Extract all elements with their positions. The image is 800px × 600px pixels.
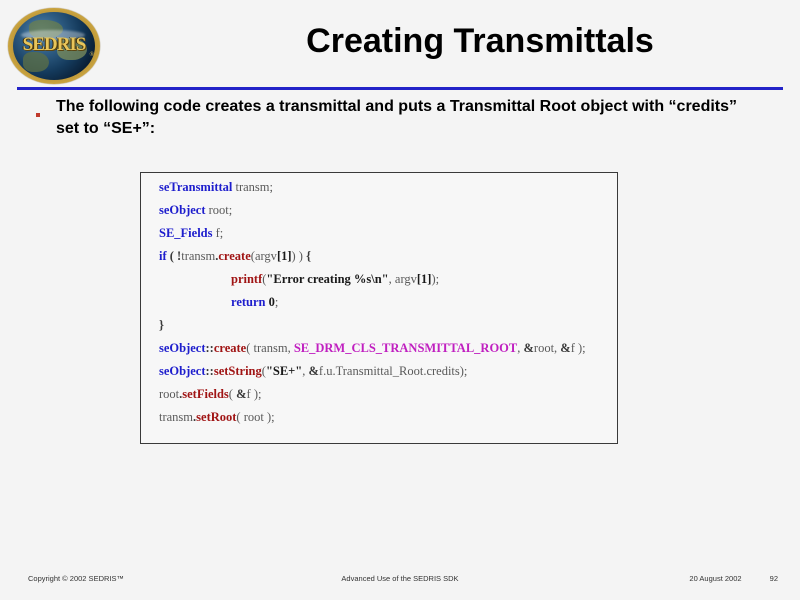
footer-page-number: 92 bbox=[770, 574, 778, 583]
code-line: return 0; bbox=[159, 296, 617, 319]
code-token-var: transm bbox=[159, 410, 193, 424]
code-token-var: ; bbox=[275, 295, 278, 309]
code-token-punct: ( ! bbox=[167, 249, 182, 263]
code-token-var: ( bbox=[236, 410, 243, 424]
code-line: seObject::setString("SE+", &f.u.Transmit… bbox=[159, 365, 617, 388]
logo-registered-icon: ® bbox=[89, 52, 94, 58]
bullet-square-icon bbox=[36, 113, 40, 117]
bullet-marker-icon bbox=[20, 96, 56, 122]
code-token-num: [1] bbox=[277, 249, 292, 263]
code-token-var: ); bbox=[264, 410, 275, 424]
code-token-type: seTransmittal bbox=[159, 180, 232, 194]
code-line: SE_Fields f; bbox=[159, 227, 617, 250]
code-token-punct: & bbox=[308, 364, 318, 378]
code-token-var: root bbox=[534, 341, 554, 355]
code-token-punct: { bbox=[306, 249, 311, 263]
code-token-kw: if bbox=[159, 249, 167, 263]
bullet-list: The following code creates a transmittal… bbox=[20, 96, 760, 139]
code-token-punct: & bbox=[236, 387, 246, 401]
code-token-str: "SE+" bbox=[266, 364, 302, 378]
code-token-var: ( bbox=[229, 387, 236, 401]
code-token-var: root; bbox=[206, 203, 233, 217]
code-line: seTransmittal transm; bbox=[159, 181, 617, 204]
code-token-var: ( bbox=[246, 341, 253, 355]
logo-landmass-c bbox=[23, 52, 49, 72]
logo-wordmark: SEDRIS bbox=[8, 35, 100, 54]
slide-footer: Copyright © 2002 SEDRIS™ Advanced Use of… bbox=[0, 574, 800, 590]
page-title: Creating Transmittals bbox=[180, 22, 780, 61]
slide-header: SEDRIS ® Creating Transmittals bbox=[0, 0, 800, 88]
code-token-type: SE_Fields bbox=[159, 226, 213, 240]
code-line: seObject root; bbox=[159, 204, 617, 227]
code-line: printf("Error creating %s\n", argv[1]); bbox=[159, 273, 617, 296]
code-token-var: ); bbox=[575, 341, 586, 355]
code-line: } bbox=[159, 319, 617, 342]
footer-date: 20 August 2002 bbox=[689, 574, 741, 583]
code-token-var: ); bbox=[251, 387, 262, 401]
code-token-fn: setRoot bbox=[196, 410, 236, 424]
code-token-fn: create bbox=[218, 249, 250, 263]
code-token-var: argv bbox=[395, 272, 417, 286]
footer-meta: 20 August 2002 92 bbox=[689, 574, 778, 583]
code-token-punct: :: bbox=[206, 341, 214, 355]
code-token-type: seObject bbox=[159, 364, 206, 378]
code-token-fn: create bbox=[214, 341, 246, 355]
code-token-punct: :: bbox=[206, 364, 214, 378]
code-token-const: SE_DRM_CLS_TRANSMITTAL_ROOT bbox=[294, 341, 517, 355]
code-token-var: f; bbox=[213, 226, 224, 240]
code-token-punct: } bbox=[159, 318, 164, 332]
code-line: seObject::create( transm, SE_DRM_CLS_TRA… bbox=[159, 342, 617, 365]
code-token-fn: setString bbox=[214, 364, 262, 378]
code-line: transm.setRoot( root ); bbox=[159, 411, 617, 434]
code-line: root.setFields( &f ); bbox=[159, 388, 617, 411]
code-line: if ( !transm.create(argv[1]) ) { bbox=[159, 250, 617, 273]
code-token-var: root bbox=[244, 410, 264, 424]
footer-deck-title: Advanced Use of the SEDRIS SDK bbox=[0, 574, 800, 583]
code-token-var: transm bbox=[181, 249, 215, 263]
code-token-punct: & bbox=[523, 341, 533, 355]
code-token-var: ); bbox=[431, 272, 439, 286]
code-token-fn: setFields bbox=[182, 387, 229, 401]
code-token-var: transm; bbox=[232, 180, 273, 194]
sedris-globe-logo: SEDRIS ® bbox=[8, 8, 100, 84]
code-token-punct: & bbox=[560, 341, 570, 355]
code-token-var: ) ) bbox=[292, 249, 307, 263]
code-token-type: seObject bbox=[159, 203, 206, 217]
code-token-type: seObject bbox=[159, 341, 206, 355]
code-token-num: [1] bbox=[417, 272, 432, 286]
code-block: seTransmittal transm;seObject root;SE_Fi… bbox=[140, 172, 618, 444]
title-divider bbox=[17, 87, 783, 90]
bullet-text: The following code creates a transmittal… bbox=[56, 96, 760, 139]
code-token-var: argv bbox=[255, 249, 277, 263]
code-token-str: "Error creating %s\n" bbox=[266, 272, 388, 286]
code-token-kw: return bbox=[231, 295, 266, 309]
list-item: The following code creates a transmittal… bbox=[20, 96, 760, 139]
code-token-fn: printf bbox=[231, 272, 262, 286]
code-token-var: f.u.Transmittal_Root.credits); bbox=[319, 364, 468, 378]
code-token-var: transm bbox=[254, 341, 288, 355]
code-token-var: root bbox=[159, 387, 179, 401]
